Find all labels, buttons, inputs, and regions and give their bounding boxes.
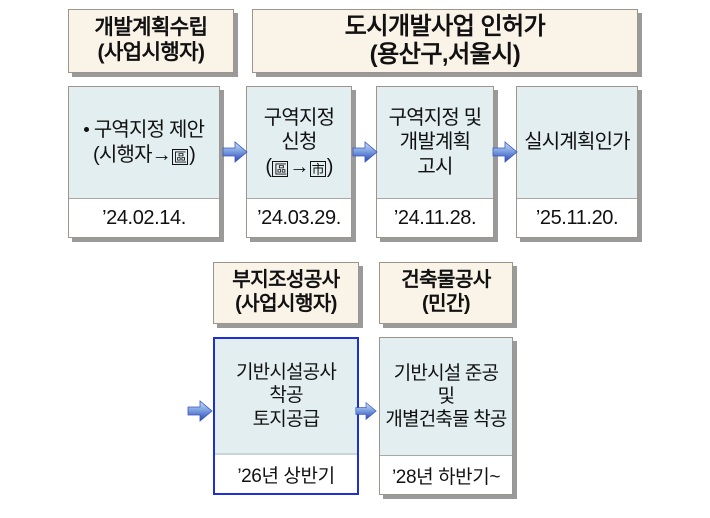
step-body: 기반시설공사 착공 토지공급 — [215, 339, 357, 454]
process-step-designation-and-plan-notice: 구역지정 및 개발계획 고시 ’24.11.28. — [376, 86, 494, 238]
step-body: 기반시설 준공 및 개별건축물 착공 — [380, 338, 512, 455]
step-line3: 토지공급 — [253, 408, 320, 431]
step-body: 구역지정 및 개발계획 고시 — [377, 87, 493, 198]
bullet-icon — [84, 127, 89, 132]
step-line2-prefix: (시행자→ — [93, 143, 171, 167]
process-step-infrastructure-start-land-supply: 기반시설공사 착공 토지공급 ’26년 상반기 — [213, 337, 359, 495]
flow-arrow-right-icon — [355, 400, 377, 422]
step-body: 실시계획인가 — [517, 87, 637, 198]
header-site-preparation-work: 부지조성공사 (사업시행자) — [213, 262, 359, 324]
step-line1: 구역지정 제안 — [94, 118, 204, 142]
step-line1: 구역지정 — [264, 106, 334, 130]
process-step-district-designation-application: 구역지정 신청 (區→市) ’24.03.29. — [246, 86, 352, 238]
step-date: ’24.03.29. — [247, 198, 351, 237]
hanja-si-boxed: 市 — [310, 161, 326, 177]
step-body: 구역지정 신청 (區→市) — [247, 87, 351, 198]
header-line2: (사업시행자) — [97, 41, 204, 66]
flow-arrow-right-icon — [492, 141, 518, 163]
header-urban-development-permit: 도시개발사업 인허가 (용산구,서울시) — [252, 9, 638, 73]
process-step-infrastructure-completion-building-start: 기반시설 준공 및 개별건축물 착공 ’28년 하반기~ — [379, 337, 513, 495]
step-line3: 개별건축물 착공 — [385, 408, 506, 431]
header-line2: (용산구,서울시) — [370, 41, 521, 69]
header-building-construction: 건축물공사 (민간) — [379, 262, 513, 324]
step-line1: 구역지정 및 — [389, 106, 482, 130]
step-line3-arrow: → — [289, 155, 308, 179]
step-line2: 착공 — [269, 384, 302, 407]
step-line1: 기반시설공사 — [236, 361, 336, 384]
step-date: ’24.02.14. — [69, 198, 219, 237]
step-date: ’25.11.20. — [517, 198, 637, 237]
header-development-plan: 개발계획수립 (사업시행자) — [68, 9, 234, 73]
step-line3-row: (區→市) — [265, 155, 332, 179]
step-line2-row: (시행자→區) — [93, 143, 195, 167]
step-date: ’28년 하반기~ — [380, 455, 512, 494]
flow-arrow-right-icon — [222, 141, 248, 163]
step-line2: 및 — [438, 385, 455, 408]
step-line2-suffix: ) — [189, 143, 195, 167]
header-line1: 개발계획수립 — [95, 16, 208, 41]
process-step-district-designation-proposal: 구역지정 제안 (시행자→區) ’24.02.14. — [68, 86, 220, 238]
step-line2: 개발계획 — [400, 130, 470, 154]
step-line1: 기반시설 준공 — [394, 362, 499, 385]
step-line2: 신청 — [281, 130, 316, 154]
header-line1: 건축물공사 — [401, 269, 491, 293]
step-body: 구역지정 제안 (시행자→區) — [69, 87, 219, 198]
step-line1: 실시계획인가 — [524, 130, 630, 154]
header-line1: 도시개발사업 인허가 — [345, 13, 545, 41]
hanja-gu-boxed: 區 — [272, 161, 288, 177]
flow-arrow-right-icon — [352, 141, 378, 163]
step-line3-suffix: ) — [327, 155, 333, 179]
step-line3-prefix: ( — [265, 155, 271, 179]
step-date: ’26년 상반기 — [215, 454, 357, 493]
header-line2: (민간) — [422, 293, 470, 317]
step-line3: 고시 — [417, 155, 452, 179]
step-line1-row: 구역지정 제안 — [84, 118, 204, 142]
header-line2: (사업시행자) — [235, 293, 337, 317]
hanja-gu-boxed: 區 — [172, 149, 188, 165]
header-line1: 부지조성공사 — [232, 269, 339, 293]
process-step-implementation-plan-approval: 실시계획인가 ’25.11.20. — [516, 86, 638, 238]
flow-arrow-right-icon — [187, 400, 213, 422]
step-date: ’24.11.28. — [377, 198, 493, 237]
